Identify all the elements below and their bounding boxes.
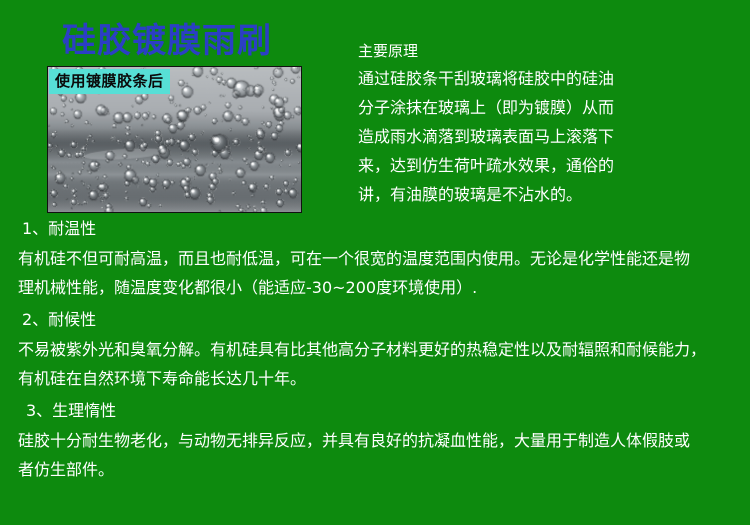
feature-section-3-line: 硅胶十分耐生物老化，与动物无排异反应，并具有良好的抗凝血性能，大量用于制造人体假…: [0, 426, 750, 455]
photo-caption-badge: 使用镀膜胶条后: [49, 69, 170, 94]
main-principle-line: 来，达到仿生荷叶疏水效果，通俗的: [358, 151, 738, 180]
product-description-page: 硅胶镀膜雨刷 使用镀膜胶条后 主要原理 通过硅胶条干刮玻璃将硅胶中的硅油 分子涂…: [0, 0, 750, 525]
feature-section-2-line: 不易被紫外光和臭氧分解。有机硅具有比其他高分子材料更好的热稳定性以及耐辐照和耐候…: [0, 335, 750, 364]
main-principle-line: 造成雨水滴落到玻璃表面马上滚落下: [358, 122, 738, 151]
feature-section-1-line: 有机硅不但可耐高温，而且也耐低温，可在一个很宽的温度范围内使用。无论是化学性能还…: [0, 244, 750, 273]
feature-section-1: 1、耐温性 有机硅不但可耐高温，而且也耐低温，可在一个很宽的温度范围内使用。无论…: [0, 214, 750, 302]
feature-section-3-line: 者仿生部件。: [0, 455, 750, 484]
feature-section-2: 2、耐候性 不易被紫外光和臭氧分解。有机硅具有比其他高分子材料更好的热稳定性以及…: [0, 305, 750, 393]
feature-section-1-line: 理机械性能，随温度变化都很小（能适应-30~200度环境使用）.: [0, 273, 750, 302]
main-principle-line: 讲，有油膜的玻璃是不沾水的。: [358, 180, 738, 209]
main-principle-line: 分子涂抹在玻璃上（即为镀膜）从而: [358, 93, 738, 122]
feature-section-2-heading: 2、耐候性: [0, 305, 750, 335]
product-photo: 使用镀膜胶条后: [47, 66, 302, 213]
feature-section-3: 3、生理惰性 硅胶十分耐生物老化，与动物无排异反应，并具有良好的抗凝血性能，大量…: [0, 396, 750, 484]
feature-section-3-heading: 3、生理惰性: [0, 396, 750, 426]
feature-sections: 1、耐温性 有机硅不但可耐高温，而且也耐低温，可在一个很宽的温度范围内使用。无论…: [0, 214, 750, 484]
main-principle-line: 通过硅胶条干刮玻璃将硅胶中的硅油: [358, 64, 738, 93]
page-title: 硅胶镀膜雨刷: [62, 20, 272, 62]
main-principle-block: 主要原理 通过硅胶条干刮玻璃将硅胶中的硅油 分子涂抹在玻璃上（即为镀膜）从而 造…: [358, 38, 738, 209]
main-principle-heading: 主要原理: [358, 38, 738, 64]
feature-section-2-line: 有机硅在自然环境下寿命能长达几十年。: [0, 364, 750, 393]
feature-section-1-heading: 1、耐温性: [0, 214, 750, 244]
